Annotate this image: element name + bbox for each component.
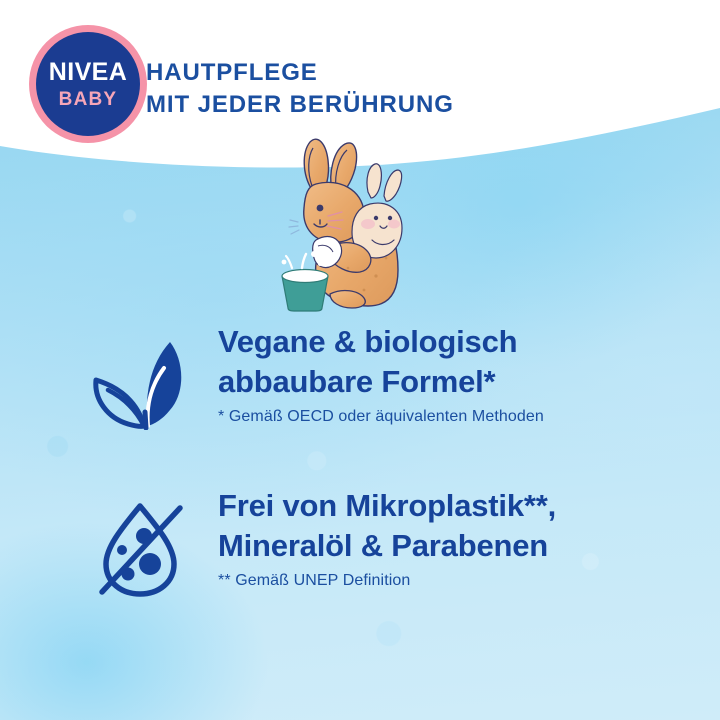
headline-line-1: HAUTPFLEGE bbox=[146, 57, 454, 89]
logo-secondary-text: BABY bbox=[59, 90, 118, 109]
logo-primary-text: NIVEA bbox=[49, 60, 127, 85]
claim-title-line-1: Vegane & biologisch bbox=[218, 322, 544, 362]
headline-line-2: MIT JEDER BERÜHRUNG bbox=[146, 89, 454, 121]
nivea-baby-logo: NIVEA BABY bbox=[36, 32, 140, 136]
claim-footnote: * Gemäß OECD oder äquivalenten Methoden bbox=[218, 408, 544, 426]
claim-vegan-biodegradable: Vegane & biologisch abbaubare Formel* * … bbox=[84, 322, 544, 430]
nivea-baby-banner: NIVEA BABY HAUTPFLEGE MIT JEDER BERÜHRUN… bbox=[0, 0, 720, 720]
claim-footnote: ** Gemäß UNEP Definition bbox=[218, 572, 556, 590]
claim-title-line-1: Frei von Mikroplastik**, bbox=[218, 486, 556, 526]
claim-title: Vegane & biologisch abbaubare Formel* bbox=[218, 322, 544, 401]
claim-text-block: Vegane & biologisch abbaubare Formel* * … bbox=[196, 322, 544, 426]
claim-text-block: Frei von Mikroplastik**, Mineralöl & Par… bbox=[196, 486, 556, 590]
claim-title-line-2: abbaubare Formel* bbox=[218, 362, 544, 402]
page-title: HAUTPFLEGE MIT JEDER BERÜHRUNG bbox=[146, 57, 454, 121]
mother-and-baby-bunny-illustration bbox=[272, 136, 432, 312]
claim-free-from-microplastic: Frei von Mikroplastik**, Mineralöl & Par… bbox=[84, 486, 556, 600]
leaf-icon bbox=[84, 322, 196, 430]
claim-title: Frei von Mikroplastik**, Mineralöl & Par… bbox=[218, 486, 556, 565]
no-microplastic-droplet-icon bbox=[84, 486, 196, 600]
claim-title-line-2: Mineralöl & Parabenen bbox=[218, 526, 556, 566]
